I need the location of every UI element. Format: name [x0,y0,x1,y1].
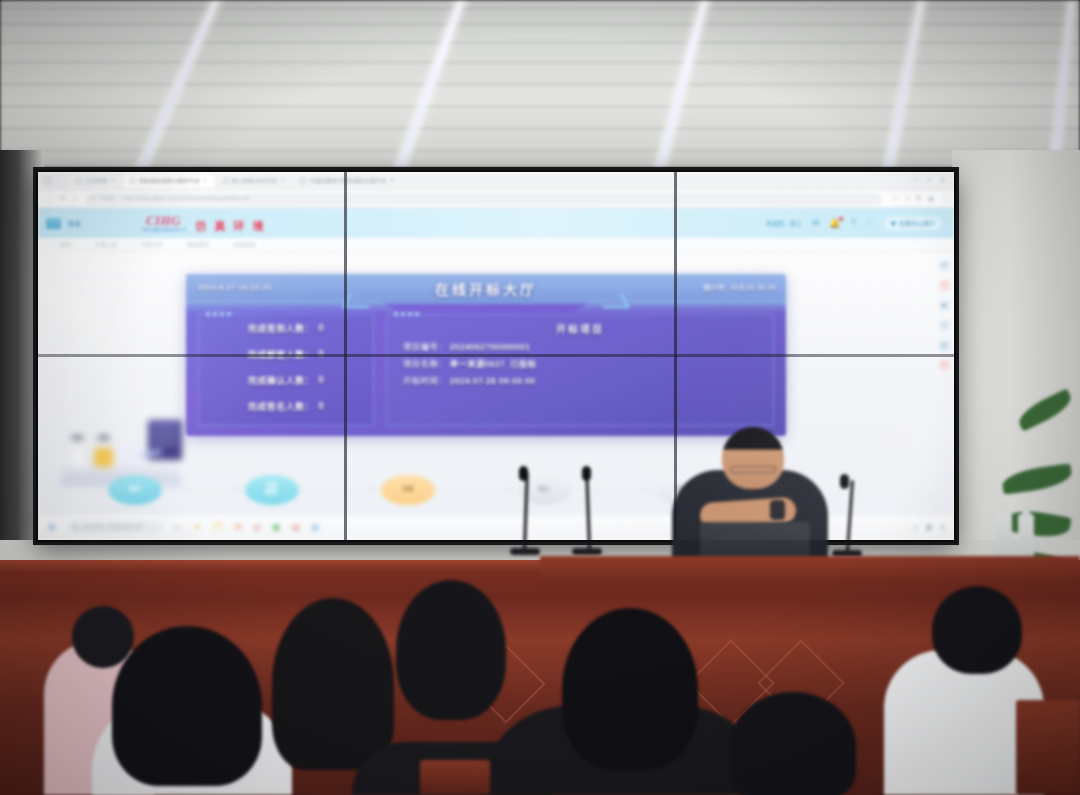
project-panel-title: 开标项目 [387,321,773,336]
presenter-watch [770,500,785,520]
stat-label: 完成签名人数： [248,400,315,413]
weather-icon[interactable]: ☀ [193,522,201,533]
project-info-panel: 开标项目 项目编号： 2024062700000001 项目名称： 单一来源06… [386,314,774,426]
tab-title: 中国交建电子招标投标交易平台 [309,177,386,185]
field-value: 2024-07-28 09:00:00 [450,376,536,386]
minimize-button[interactable]: — [912,177,918,184]
extensions-icon[interactable]: ⧉ [916,195,921,203]
audience-head [562,608,698,770]
hero-title-bar: 2024-6-27 16:23:33 在线开标大厅 倒计时: 30天16:36:… [186,274,786,304]
field-value: 单一来源0627_已投标 [450,359,537,369]
tab-title: 网上商城-台州专区 [232,177,278,185]
shield-icon[interactable]: ♡ [866,218,874,229]
audience-head [72,606,134,668]
tab-title: 公共资源 [85,177,107,185]
mail-icon[interactable]: ✉ [235,522,243,533]
close-icon[interactable]: ✕ [110,177,115,184]
site-header: 国家 CIHG 中国交通建设集团有限公司 仿 真 环 境 欢迎您，张三 ✉ 🔔 … [38,208,954,238]
welcome-text: 欢迎您，张三 [766,219,802,228]
project-field: 项目名称： 单一来源0627_已投标 [403,358,773,370]
countdown: 倒计时: 30天16:36:26 [703,283,776,293]
nav-item-hall[interactable]: 开标大厅 [141,241,163,249]
stat-value: 0 [318,375,324,386]
logo-subtitle: 中国交通建设集团有限公司 [141,228,187,233]
stat-value: 0 [318,349,324,360]
profile-icon[interactable]: ◉ [928,195,934,203]
alert-icon[interactable]: ⚠ [939,320,950,331]
tab-search-icon[interactable] [56,175,67,186]
browser-toolbar-icons: ☆ ⤓ ⧉ ◉ ⋮ [889,195,949,203]
bell-icon[interactable]: 🔔 [829,218,840,229]
system-tray: ▲ 🔊 ▮ [913,525,944,531]
audience-head [932,586,1022,674]
user-icon: ◉ [891,220,896,227]
download-icon[interactable]: ⤓ [906,195,909,203]
water-bottle [996,512,1012,560]
volume-icon[interactable]: 🔊 [926,525,933,531]
nav-item-collab[interactable]: 业务协同 [233,241,255,249]
home-icon[interactable]: ⌂ [73,194,78,203]
site-logo[interactable]: CIHG 中国交通建设集团有限公司 仿 真 环 境 [141,214,266,233]
window-controls: — □ ✕ [912,177,950,184]
not-secure-icon: ⚠ [91,195,96,202]
back-arrow-icon[interactable]: ← [44,194,52,203]
audience-head [112,626,262,786]
step-arrow-icon [439,490,514,491]
step-decrypt[interactable]: 开标 解密 [245,475,299,505]
field-value: 2024062700000001 [450,342,530,352]
doc-icon[interactable]: ▤ [939,340,950,351]
logo-text: CIHG [146,214,181,227]
close-icon[interactable]: ✕ [389,177,394,184]
help-icon[interactable]: ? [939,360,950,371]
help-icon[interactable]: ? [851,218,856,228]
project-field: 项目编号： 2024062700000001 [403,341,773,353]
site-header-right: 欢迎您，张三 ✉ 🔔 ? ♡ ◉ 交易中心用户 [766,217,946,230]
field-label: 开标时间： [403,376,447,386]
dashboard-hero-card: 2024-6-27 16:23:33 在线开标大厅 倒计时: 30天16:36:… [186,274,786,436]
url-text: https://www.ctbpsp.com/cms/channel/zbtbx… [124,196,250,202]
task-view-icon[interactable]: ▭ [174,522,183,533]
stat-label: 完成确认人数： [248,374,315,387]
browser-icon[interactable]: ◎ [253,522,261,533]
user-icon[interactable]: ◉ [939,300,950,311]
close-window-button[interactable]: ✕ [940,177,945,184]
wps-icon[interactable]: W [292,523,301,533]
gov-label: 国家 [68,218,82,228]
battery-icon[interactable]: ▮ [941,525,944,531]
stat-row: 完成签到人数： 0 [199,315,373,341]
search-input[interactable]: 🔍 在这里输入你要搜索的内容 [67,521,163,534]
chair [420,760,490,795]
menu-icon[interactable]: ⋮ [941,195,948,203]
edge-icon[interactable]: ◍ [311,522,319,533]
favicon [130,178,136,184]
audience-head [396,580,506,720]
browser-tabstrip: 公共资源 ✕ 招标投标监管与服务平台 ✕ 网上商城-台州专区 ✕ [38,172,954,190]
stat-label: 完成解密人数： [248,348,315,361]
video-wall: 公共资源 ✕ 招标投标监管与服务平台 ✕ 网上商城-台州专区 ✕ [36,170,956,542]
illustration-hair [71,435,84,440]
close-icon[interactable]: ✕ [280,177,285,184]
maximize-button[interactable]: □ [927,177,931,184]
reload-icon[interactable]: ⟳ [59,194,66,203]
windows-start-icon[interactable]: ⊞ [48,522,56,533]
step-open[interactable]: 开标 [381,475,435,505]
side-rail: ✉ ! ◉ ⚠ ▤ ? [936,256,952,371]
address-bar[interactable]: ⚠ 不安全 | https://www.ctbpsp.com/cms/chann… [85,193,882,205]
browser-navbar: ← ⟳ ⌂ ⚠ 不安全 | https://www.ctbpsp.com/cms… [38,190,954,208]
countdown-label: 倒计时: [703,285,728,292]
profile-icon[interactable] [42,175,53,186]
field-label: 项目编号： [403,342,447,352]
network-icon[interactable]: ▲ [913,525,918,531]
stat-value: 0 [318,323,324,334]
conference-room-scene: 公共资源 ✕ 招标投标监管与服务平台 ✕ 网上商城-台州专区 ✕ [0,0,1080,795]
illustration-hair [97,435,110,440]
presenter-desk [540,556,1080,586]
stat-value: 0 [318,401,324,412]
nav-item-home[interactable]: 首页 [60,241,71,249]
notice-icon[interactable]: ! [939,280,950,291]
tab-title: 招标投标监管与服务平台 [139,177,200,185]
account-pill[interactable]: ◉ 交易中心用户 [884,217,942,230]
folder-icon[interactable]: 🗂 [212,522,223,533]
browser-tab[interactable]: 网上商城-台州专区 ✕ [217,174,292,188]
nav-item-projects[interactable]: 我的项目 [187,241,209,249]
favicon [76,178,82,184]
project-field: 开标时间： 2024-07-28 09:00:00 [403,375,773,387]
stat-label: 完成签到人数： [248,322,315,335]
search-placeholder: 在这里输入你要搜索的内容 [83,524,143,531]
security-label: 不安全 [100,195,115,202]
step-arrow-icon [166,490,241,491]
presenter-glasses-icon [730,466,776,473]
browser-tab[interactable]: 公共资源 ✕ [70,174,121,188]
field-label: 项目名称： [403,359,447,369]
countdown-value: 30天16:36:26 [730,285,776,292]
account-label: 交易中心用户 [899,219,935,228]
star-icon[interactable]: ☆ [893,195,899,203]
attendance-stats-panel: 完成签到人数： 0 完成解密人数： 0 完成确认人数： 0 [198,314,374,426]
step-signin[interactable]: 签到 [108,475,162,505]
chat-icon[interactable]: ✉ [939,260,950,271]
audience-head [272,598,394,770]
browser-tab[interactable]: 中国交建电子招标投标交易平台 ✕ [294,174,400,188]
stat-row: 完成确认人数： 0 [199,367,373,393]
illustration-head [123,435,136,446]
browser-tab-active[interactable]: 招标投标监管与服务平台 ✕ [124,174,214,188]
message-icon[interactable]: ✉ [812,218,820,229]
search-icon: 🔍 [73,525,79,531]
water-bottle [1018,514,1034,562]
sim-environment-label: 仿 真 环 境 [195,222,266,233]
process-steps: 签到 开标 解密 开标 确认 签名 [108,470,708,510]
chair [1016,700,1080,795]
step-arrow-icon [303,490,378,491]
close-icon[interactable]: ✕ [203,177,208,184]
bid-opening-dashboard: 2024-6-27 16:23:33 在线开标大厅 倒计时: 30天16:36:… [38,252,954,514]
site-nav: 首页 交易公告 开标大厅 我的项目 业务协同 [38,238,954,252]
presenter-head [722,427,784,489]
audience-head [730,692,856,795]
stat-row: 完成签名人数： 0 [199,393,373,419]
stat-row: 完成解密人数： 0 [199,341,373,367]
favicon [300,178,306,184]
favicon [223,178,229,184]
nav-item-notice[interactable]: 交易公告 [95,241,117,249]
gov-badge-icon [46,218,61,229]
ceiling [0,0,1080,168]
wechat-icon[interactable]: ▣ [272,522,281,533]
page-title: 在线开标大厅 [186,280,786,300]
